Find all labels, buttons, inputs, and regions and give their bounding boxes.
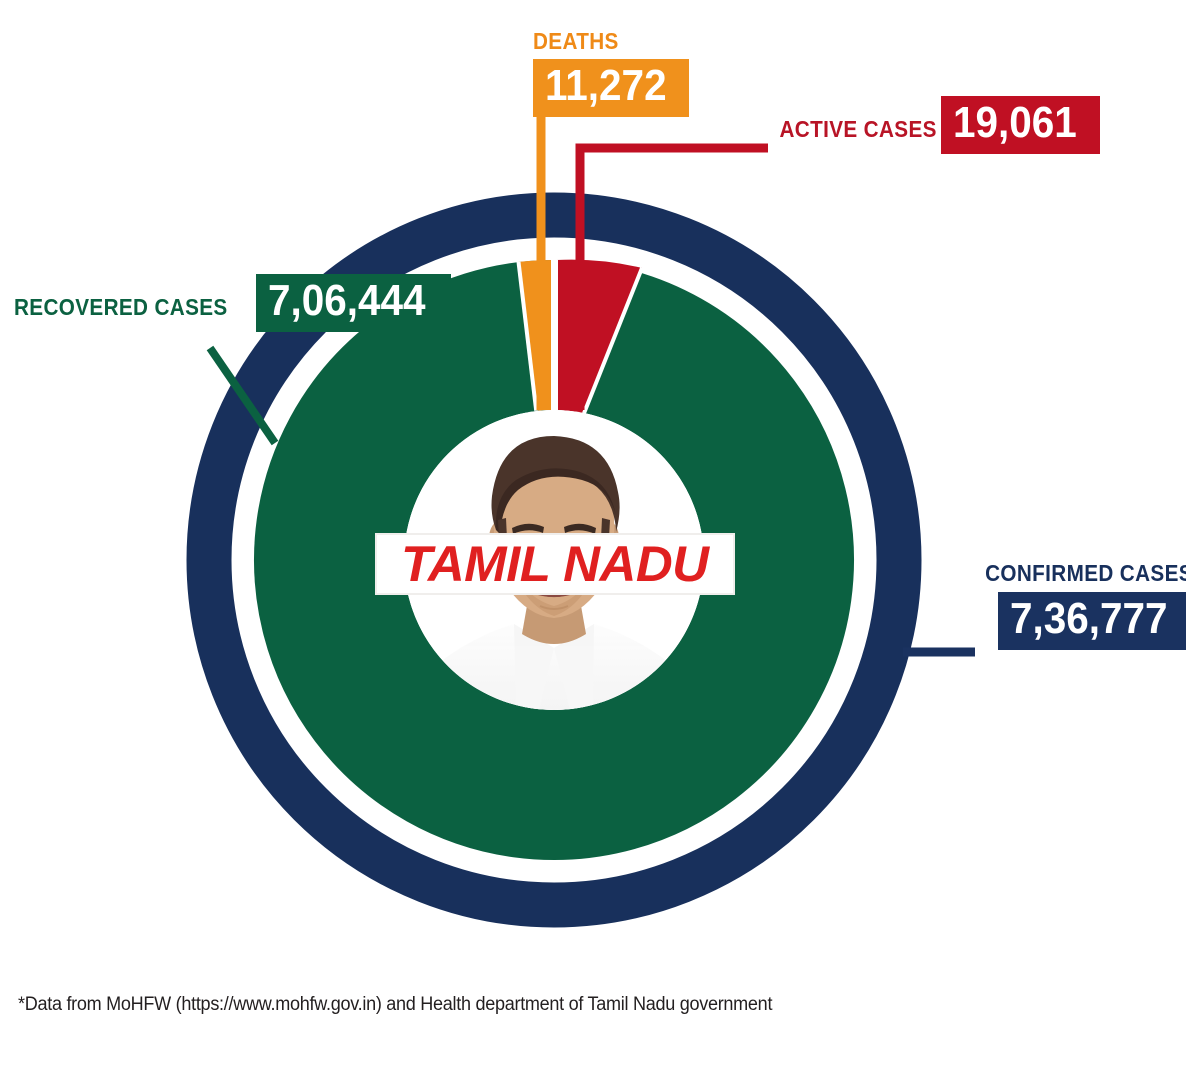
callout-active-caption: ACTIVE CASES [779, 118, 936, 141]
callout-confirmed-valuebox: 7,36,777 [998, 592, 1186, 650]
infographic-canvas: TAMIL NADU DEATHS 11,272 ACTIVE CASES 19… [0, 0, 1186, 1080]
state-name-label: TAMIL NADU [401, 539, 708, 589]
callout-deaths: DEATHS 11,272 [533, 30, 689, 117]
callout-recovered-valuebox: 7,06,444 [256, 274, 451, 332]
callout-deaths-valuebox: 11,272 [533, 59, 689, 117]
callout-deaths-value: 11,272 [545, 64, 667, 108]
callout-confirmed-cases: CONFIRMED CASES 7,36,777 [962, 562, 1186, 650]
callout-active-cases: ACTIVE CASES 19,061 [762, 90, 1100, 154]
source-footnote: *Data from MoHFW (https://www.mohfw.gov.… [18, 994, 772, 1016]
callout-recovered-caption: RECOVERED CASES [14, 296, 228, 319]
callout-deaths-caption: DEATHS [533, 30, 674, 53]
callout-active-value: 19,061 [953, 101, 1077, 145]
callout-confirmed-caption: CONFIRMED CASES [985, 562, 1186, 585]
state-name-plate: TAMIL NADU [375, 533, 735, 595]
callout-confirmed-value: 7,36,777 [1010, 597, 1168, 641]
callout-recovered-value: 7,06,444 [268, 279, 426, 323]
callout-active-valuebox: 19,061 [941, 96, 1100, 154]
callout-recovered-cases: RECOVERED CASES 7,06,444 [14, 268, 451, 332]
